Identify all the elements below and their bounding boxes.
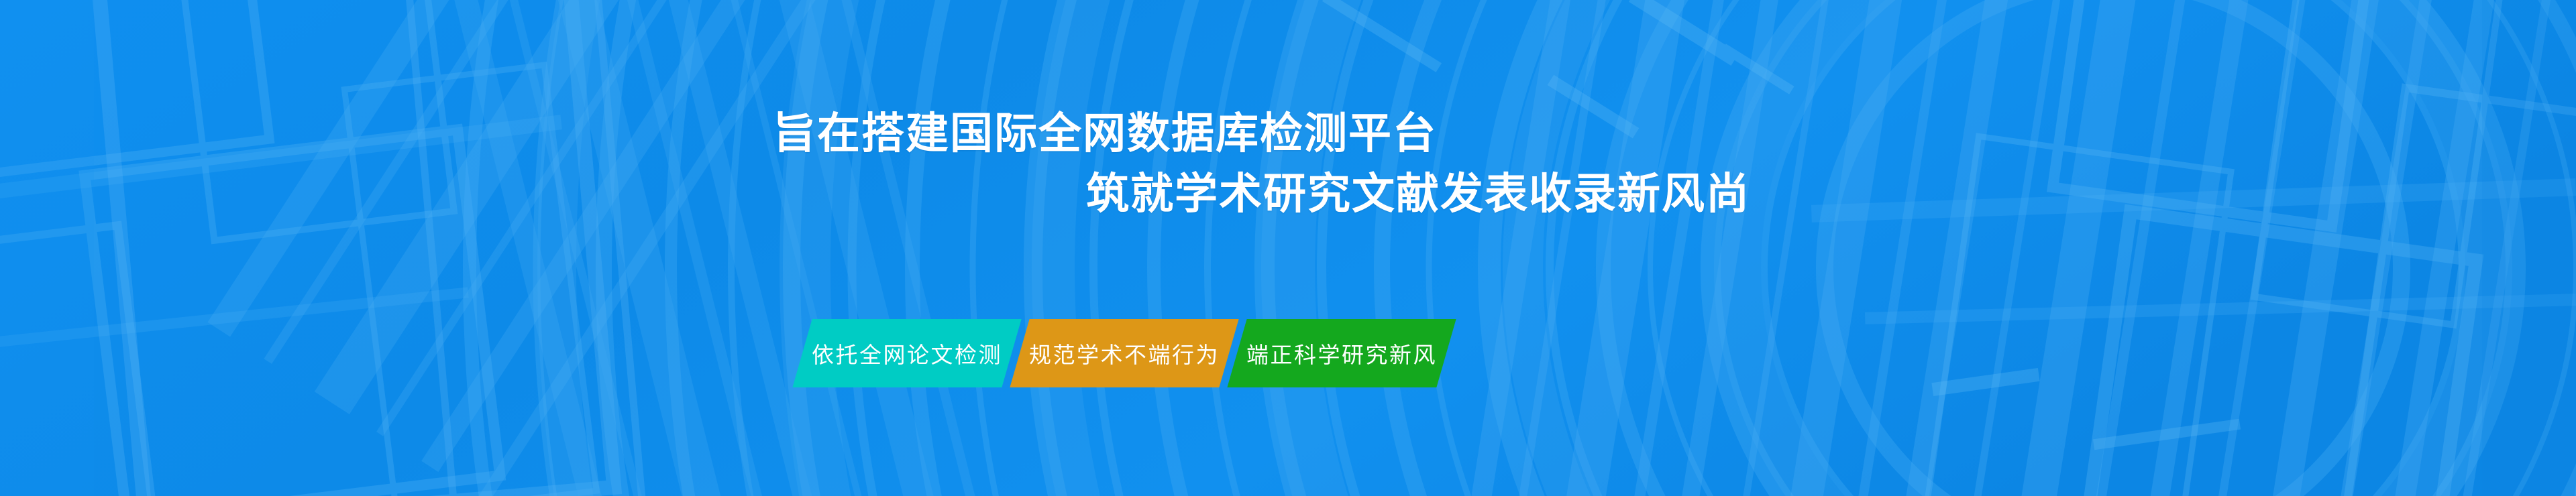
feature-tag-misconduct[interactable]: 规范学术不端行为	[1010, 319, 1238, 387]
headline-block: 旨在搭建国际全网数据库检测平台 筑就学术研究文献发表收录新风尚	[0, 103, 2576, 224]
feature-tag-label: 端正科学研究新风	[1246, 337, 1437, 369]
banner-content: 旨在搭建国际全网数据库检测平台 筑就学术研究文献发表收录新风尚 依托全网论文检测…	[0, 0, 2576, 496]
feature-tag-detection[interactable]: 依托全网论文检测	[792, 319, 1021, 387]
headline-secondary: 筑就学术研究文献发表收录新风尚	[1086, 164, 2576, 224]
feature-tag-research-ethos[interactable]: 端正科学研究新风	[1227, 319, 1456, 387]
headline-primary: 旨在搭建国际全网数据库检测平台	[773, 103, 2576, 164]
feature-tag-strip: 依托全网论文检测 规范学术不端行为 端正科学研究新风	[0, 319, 2576, 387]
feature-tag-label: 依托全网论文检测	[812, 337, 1002, 369]
promo-banner: 旨在搭建国际全网数据库检测平台 筑就学术研究文献发表收录新风尚 依托全网论文检测…	[0, 0, 2576, 496]
feature-tag-label: 规范学术不端行为	[1029, 337, 1220, 369]
